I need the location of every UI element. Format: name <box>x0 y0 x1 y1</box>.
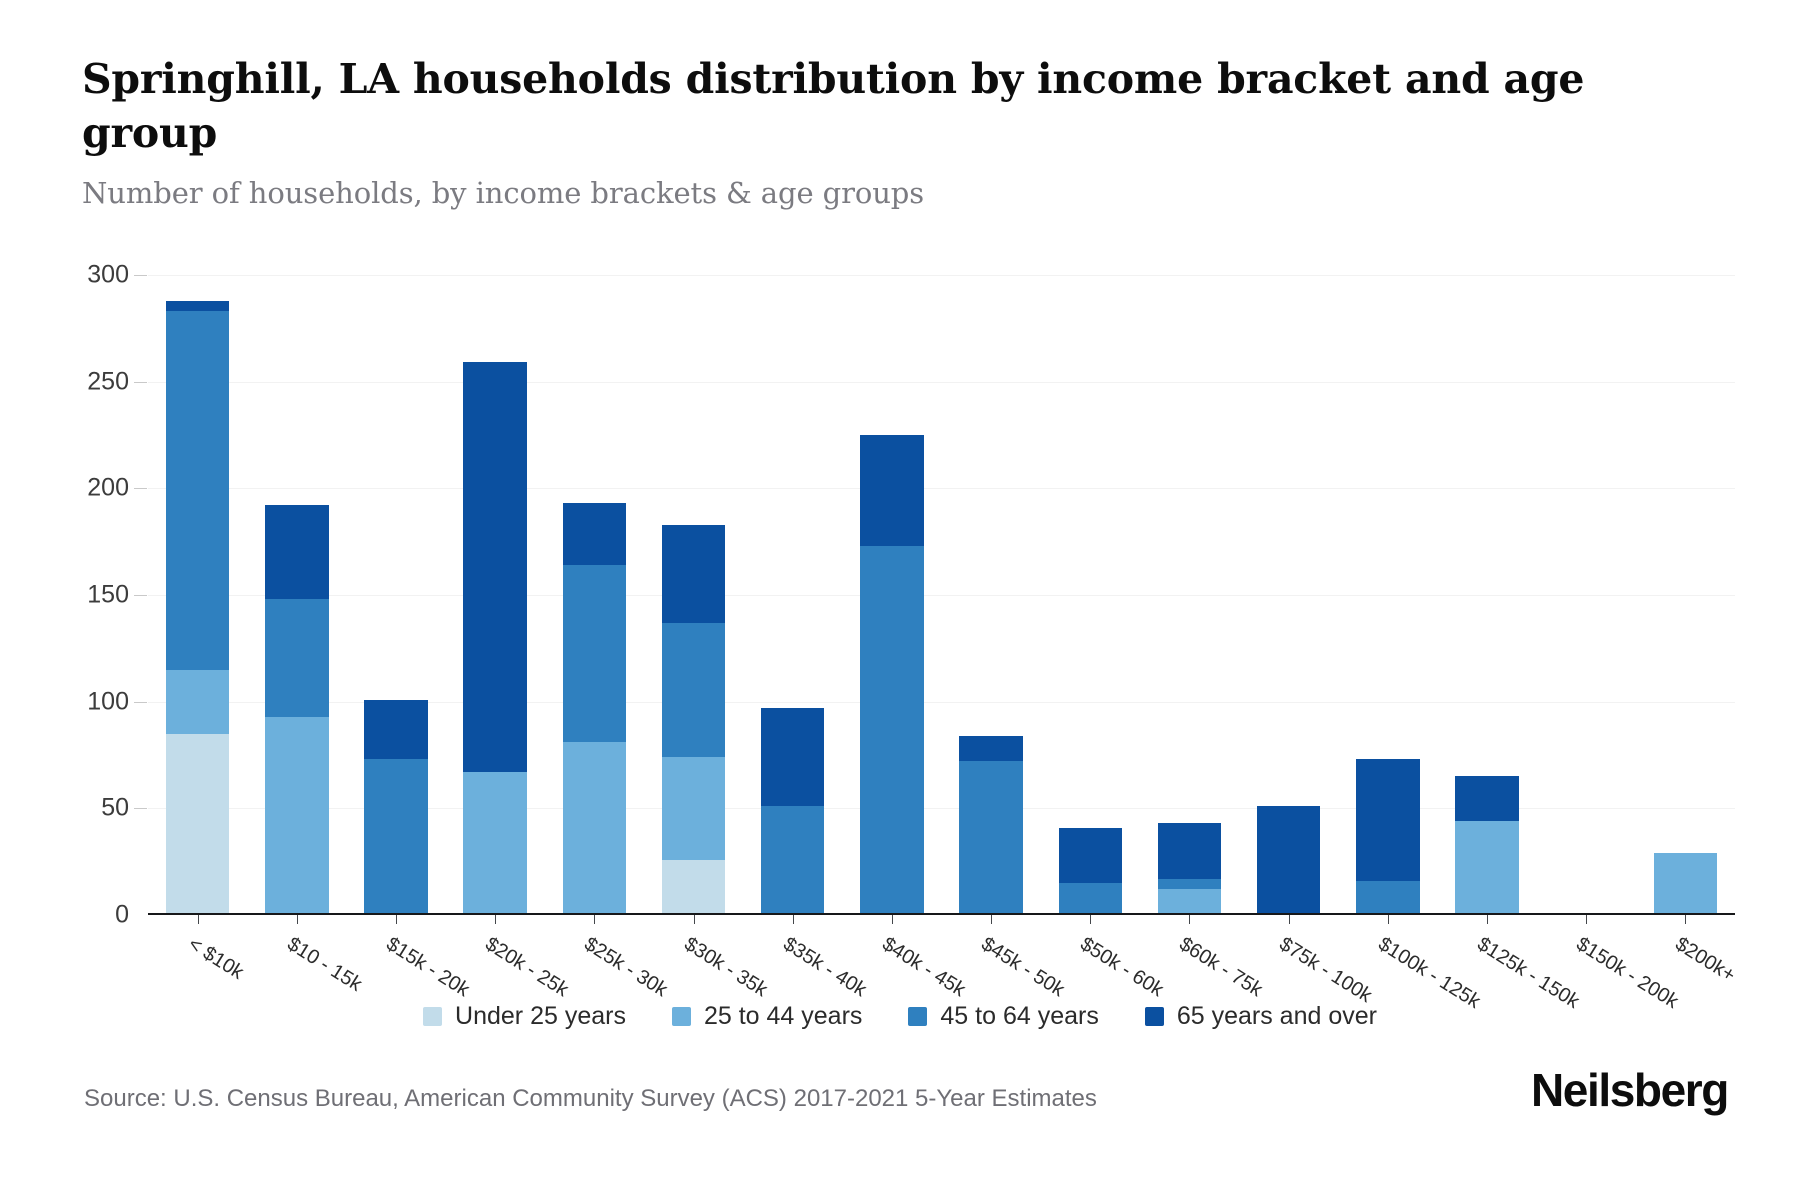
x-axis-tick-mark <box>297 915 298 924</box>
x-axis-tick-mark <box>694 915 695 924</box>
x-axis-label-slot: $15k - 20k <box>346 927 445 1067</box>
plot-canvas <box>148 275 1735 915</box>
bar-segment[interactable] <box>166 301 229 312</box>
x-axis-tick-mark <box>1586 915 1587 924</box>
bar-stack[interactable] <box>166 301 229 915</box>
y-axis-tick-label: 300 <box>87 261 129 290</box>
bar-segment[interactable] <box>1158 823 1221 878</box>
bar-segment[interactable] <box>1356 759 1419 881</box>
chart-page: Springhill, LA households distribution b… <box>0 0 1800 1200</box>
legend-label: 65 years and over <box>1177 1002 1377 1031</box>
y-axis-tick-mark <box>134 488 147 489</box>
bar-segment[interactable] <box>265 505 328 599</box>
y-axis-tick-mark <box>134 702 147 703</box>
bar-segment[interactable] <box>1158 889 1221 915</box>
bar-group[interactable] <box>942 275 1041 915</box>
bar-segment[interactable] <box>1158 879 1221 890</box>
x-axis-tick-mark <box>892 915 893 924</box>
bar-group[interactable] <box>148 275 247 915</box>
legend-swatch-icon <box>672 1007 691 1026</box>
bar-segment[interactable] <box>166 311 229 669</box>
x-axis-line <box>148 913 1735 915</box>
x-axis-tick-mark <box>793 915 794 924</box>
bar-segment[interactable] <box>364 700 427 760</box>
bar-segment[interactable] <box>563 742 626 915</box>
bar-group[interactable] <box>346 275 445 915</box>
x-axis-label-slot: $35k - 40k <box>743 927 842 1067</box>
bar-segment[interactable] <box>463 362 526 772</box>
x-axis-tick-label: < $10k <box>183 933 247 985</box>
bar-segment[interactable] <box>662 623 725 757</box>
bar-segment[interactable] <box>959 761 1022 915</box>
bar-stack[interactable] <box>1059 828 1122 915</box>
bar-segment[interactable] <box>1356 881 1419 915</box>
legend-label: 45 to 64 years <box>940 1002 1098 1031</box>
y-axis-tick-label: 50 <box>101 794 129 823</box>
bar-segment[interactable] <box>662 757 725 859</box>
bar-stack[interactable] <box>959 736 1022 915</box>
x-axis-label-slot: $20k - 25k <box>446 927 545 1067</box>
x-axis-tick-mark <box>1189 915 1190 924</box>
x-axis-label-slot: $75k - 100k <box>1239 927 1338 1067</box>
bar-stack[interactable] <box>761 708 824 915</box>
x-axis-label-slot: $60k - 75k <box>1140 927 1239 1067</box>
bar-stack[interactable] <box>563 503 626 915</box>
bar-segment[interactable] <box>166 734 229 915</box>
x-axis-label-slot: $50k - 60k <box>1041 927 1140 1067</box>
y-axis-tick-label: 100 <box>87 687 129 716</box>
bar-group[interactable] <box>545 275 644 915</box>
bar-group[interactable] <box>1636 275 1735 915</box>
bar-segment[interactable] <box>959 736 1022 762</box>
legend-label: 25 to 44 years <box>704 1002 862 1031</box>
legend-swatch-icon <box>908 1007 927 1026</box>
bar-group[interactable] <box>247 275 346 915</box>
x-axis-label-slot: $100k - 125k <box>1338 927 1437 1067</box>
x-axis-label-slot: $25k - 30k <box>545 927 644 1067</box>
bar-segment[interactable] <box>1059 883 1122 915</box>
x-axis-labels: < $10k$10 - 15k$15k - 20k$20k - 25k$25k … <box>148 927 1735 1067</box>
legend-item[interactable]: 25 to 44 years <box>672 1002 862 1031</box>
bar-stack[interactable] <box>1158 823 1221 915</box>
y-axis-tick-label: 0 <box>115 901 129 930</box>
x-axis-label-slot: $10 - 15k <box>247 927 346 1067</box>
bar-segment[interactable] <box>166 670 229 734</box>
bar-group[interactable] <box>446 275 545 915</box>
bar-segment[interactable] <box>860 435 923 546</box>
bar-group[interactable] <box>1437 275 1536 915</box>
x-axis-label-slot: $150k - 200k <box>1537 927 1636 1067</box>
legend-swatch-icon <box>1145 1007 1164 1026</box>
bar-group[interactable] <box>1537 275 1636 915</box>
bar-stack[interactable] <box>1654 853 1717 915</box>
x-axis-label-slot: $125k - 150k <box>1437 927 1536 1067</box>
x-axis-tick-label: $200k+ <box>1671 933 1739 988</box>
x-axis-tick-mark <box>594 915 595 924</box>
chart-subtitle: Number of households, by income brackets… <box>82 176 1642 210</box>
bar-segment[interactable] <box>662 525 725 623</box>
bar-stack[interactable] <box>860 435 923 915</box>
legend-swatch-icon <box>423 1007 442 1026</box>
bar-segment[interactable] <box>1654 853 1717 915</box>
bar-segment[interactable] <box>364 759 427 915</box>
bar-group[interactable] <box>644 275 743 915</box>
bar-segment[interactable] <box>761 806 824 915</box>
bar-group[interactable] <box>842 275 941 915</box>
bar-stack[interactable] <box>265 505 328 915</box>
x-axis-tick-mark <box>1487 915 1488 924</box>
bar-series-container <box>148 275 1735 915</box>
x-axis-tick-mark <box>198 915 199 924</box>
bar-stack[interactable] <box>364 700 427 915</box>
y-axis-tick-label: 200 <box>87 474 129 503</box>
chart-legend: Under 25 years25 to 44 years45 to 64 yea… <box>0 1002 1800 1031</box>
y-axis-tick-mark <box>134 808 147 809</box>
x-axis-tick-mark <box>1289 915 1290 924</box>
bar-segment[interactable] <box>1059 828 1122 883</box>
bar-stack[interactable] <box>1455 776 1518 915</box>
source-note: Source: U.S. Census Bureau, American Com… <box>84 1085 1097 1113</box>
x-axis-label-slot: $40k - 45k <box>842 927 941 1067</box>
x-axis-label-slot: $200k+ <box>1636 927 1735 1067</box>
y-axis-tick-mark <box>134 382 147 383</box>
x-axis-tick-mark <box>991 915 992 924</box>
x-axis-label-slot: $45k - 50k <box>942 927 1041 1067</box>
bar-segment[interactable] <box>463 772 526 915</box>
bar-segment[interactable] <box>563 503 626 565</box>
bar-segment[interactable] <box>563 565 626 742</box>
bar-segment[interactable] <box>265 717 328 915</box>
x-axis-label-slot: $30k - 35k <box>644 927 743 1067</box>
x-axis-tick-mark <box>1090 915 1091 924</box>
y-axis-tick-label: 250 <box>87 367 129 396</box>
legend-item[interactable]: Under 25 years <box>423 1002 626 1031</box>
bar-segment[interactable] <box>265 599 328 716</box>
bar-group[interactable] <box>1140 275 1239 915</box>
bar-stack[interactable] <box>1257 806 1320 915</box>
legend-label: Under 25 years <box>455 1002 626 1031</box>
chart-plot-area: 050100150200250300 < $10k$10 - 15k$15k -… <box>0 255 1800 915</box>
bar-segment[interactable] <box>662 860 725 915</box>
bar-group[interactable] <box>1338 275 1437 915</box>
bar-segment[interactable] <box>1455 776 1518 821</box>
bar-segment[interactable] <box>860 546 923 915</box>
bar-segment[interactable] <box>761 708 824 806</box>
y-axis-tick-mark <box>134 595 147 596</box>
y-axis-tick-label: 150 <box>87 581 129 610</box>
x-axis-tick-mark <box>1388 915 1389 924</box>
legend-item[interactable]: 65 years and over <box>1145 1002 1377 1031</box>
bar-stack[interactable] <box>1356 759 1419 915</box>
x-axis-tick-mark <box>1685 915 1686 924</box>
bar-segment[interactable] <box>1257 806 1320 915</box>
legend-item[interactable]: 45 to 64 years <box>908 1002 1098 1031</box>
bar-stack[interactable] <box>463 362 526 915</box>
bar-group[interactable] <box>743 275 842 915</box>
page-title: Springhill, LA households distribution b… <box>82 52 1602 160</box>
x-axis-tick-mark <box>396 915 397 924</box>
y-axis-tick-mark <box>134 275 147 276</box>
chart-header: Springhill, LA households distribution b… <box>82 52 1642 210</box>
bar-group[interactable] <box>1041 275 1140 915</box>
bar-segment[interactable] <box>1455 821 1518 915</box>
x-axis-tick-mark <box>495 915 496 924</box>
x-axis-label-slot: < $10k <box>148 927 247 1067</box>
brand-logo: Neilsberg <box>1531 1063 1728 1117</box>
bar-group[interactable] <box>1239 275 1338 915</box>
bar-stack[interactable] <box>662 525 725 915</box>
